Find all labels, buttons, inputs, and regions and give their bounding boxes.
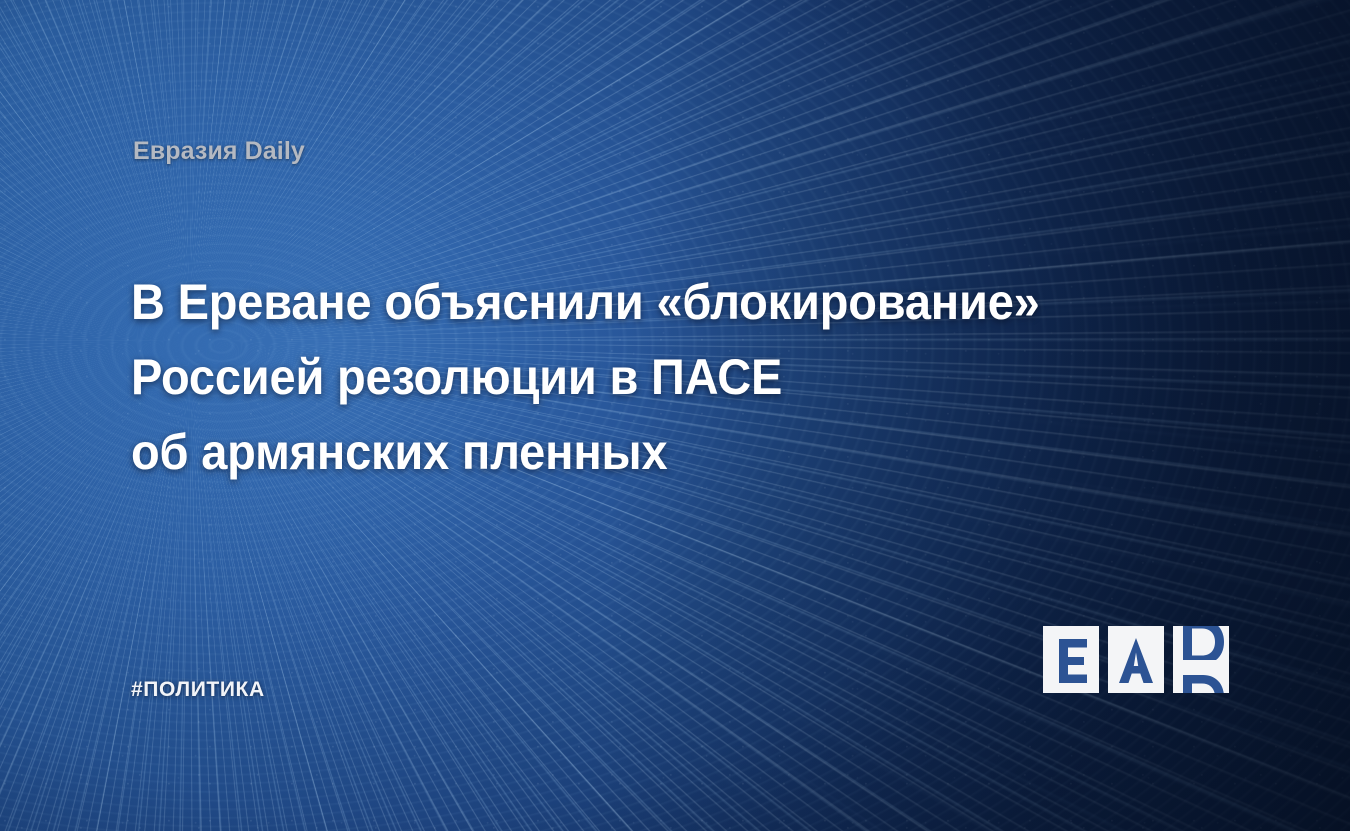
category-tag-politics[interactable]: #ПОЛИТИКА (131, 678, 265, 702)
logo-letter-d-top-half (1173, 626, 1229, 660)
logo-letter-a-icon (1108, 626, 1164, 693)
news-card: Евразия Daily В Ереване объяснили «блоки… (0, 0, 1350, 831)
headline-line-1: В Ереване объяснили «блокирование» (131, 265, 1156, 340)
page-title: В Ереване объяснили «блокирование» Росси… (131, 265, 1156, 490)
card-content: Евразия Daily В Ереване объяснили «блоки… (0, 0, 1350, 831)
logo-letter-d-upper-icon (1173, 626, 1229, 660)
logo-letter-e-tile (1043, 626, 1099, 693)
eadaily-logo[interactable] (1043, 626, 1229, 693)
logo-letter-e-icon (1043, 626, 1099, 693)
logo-letter-d-bottom-half (1173, 660, 1229, 694)
logo-letter-d-lower-icon (1173, 662, 1229, 694)
brand-name: Евразия Daily (133, 137, 305, 166)
headline-line-3: об армянских пленных (131, 415, 1156, 490)
logo-letter-a-tile (1108, 626, 1164, 693)
logo-letter-d-tile (1173, 626, 1229, 693)
headline-line-2: Россией резолюции в ПАСЕ (131, 340, 1156, 415)
